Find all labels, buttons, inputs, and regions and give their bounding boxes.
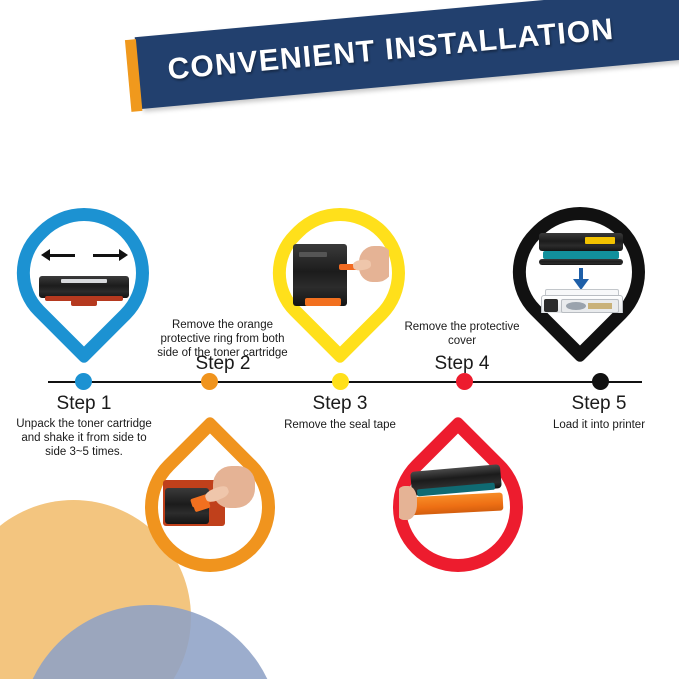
printer-control-panel xyxy=(544,299,558,312)
hand xyxy=(399,486,417,520)
arrow-right-line xyxy=(93,254,119,257)
step-1-label: Step 1 xyxy=(23,393,145,415)
step-4-description: Remove the protective cover xyxy=(403,320,521,348)
printer-output-tray xyxy=(561,299,619,313)
step-1-description: Unpack the toner cartridge and shake it … xyxy=(14,417,154,459)
toner-body xyxy=(405,492,504,515)
artwork-hand-removing-orange-ring xyxy=(161,462,259,544)
header-banner: CONVENIENT INSTALLATION xyxy=(128,8,679,138)
pin-step-1 xyxy=(9,208,159,386)
artwork-hand-pulling-seal-tape xyxy=(291,232,389,314)
tray-paper xyxy=(588,303,612,309)
artwork-hand-holding-drum-unit xyxy=(399,460,517,542)
cartridge-label-strip xyxy=(61,279,107,283)
step-4-label: Step 4 xyxy=(403,353,521,375)
artwork-cartridge-into-printer xyxy=(531,231,629,313)
tray-printed-page xyxy=(566,302,586,310)
blue-circle-decoration xyxy=(20,605,280,679)
artwork-toner-cartridge-shake xyxy=(35,232,133,314)
cartridge-ridge xyxy=(299,252,327,257)
arrow-left-line xyxy=(49,254,75,257)
timeline-dot-step-4 xyxy=(456,373,473,390)
page-title: CONVENIENT INSTALLATION xyxy=(165,0,679,106)
cartridge-orange-foot xyxy=(305,298,341,306)
cartridge-yellow-chip xyxy=(585,237,615,244)
step-3-label: Step 3 xyxy=(281,393,399,415)
pin-step-2 xyxy=(135,398,285,576)
step-5-label: Step 5 xyxy=(540,393,658,415)
pin-step-3 xyxy=(265,208,415,386)
cartridge-underside xyxy=(539,259,623,265)
cartridge-tab xyxy=(71,300,97,306)
arrow-left-head-icon xyxy=(41,249,50,261)
step-5-description: Load it into printer xyxy=(537,418,661,432)
pin-step-4 xyxy=(383,398,533,576)
arrow-right-head-icon xyxy=(119,249,128,261)
pin-step-5 xyxy=(505,207,655,385)
timeline-dot-step-2 xyxy=(201,373,218,390)
cartridge-teal-roller xyxy=(543,251,619,259)
infographic-page: CONVENIENT INSTALLATION Step 1 Unpack th… xyxy=(0,0,679,679)
